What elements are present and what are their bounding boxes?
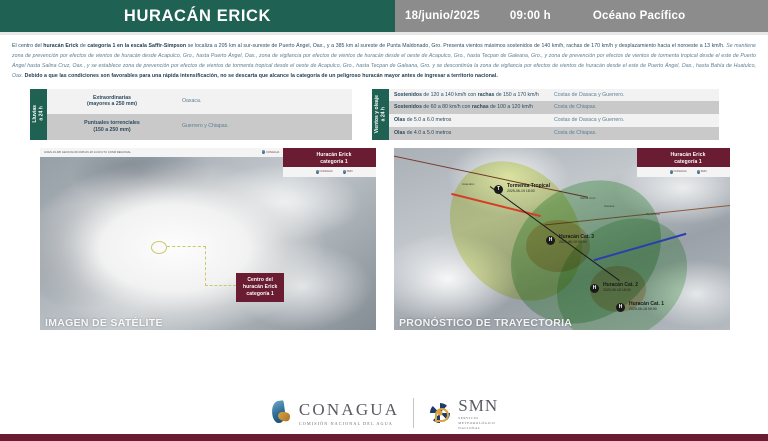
wind-desc-3: Olas de 4.0 a 5.0 metros xyxy=(389,127,549,140)
wind-table-block: Vientos y oleaje a 24 h Sostenidos de 12… xyxy=(372,89,719,140)
panels-section: GOES-19 ABI GEOCOLOR 2025-06-18 14:20 UT… xyxy=(0,146,768,330)
footer-divider xyxy=(413,398,414,428)
smn-logo-icon: SMN xyxy=(697,170,707,174)
summary-paragraph: El centro del huracán Erick de categoría… xyxy=(12,41,756,82)
wind-desc-2: Olas de 5.0 a 6.0 metros xyxy=(389,114,549,127)
callout-leader-horizontal-2 xyxy=(205,285,236,286)
summary-section: El centro del huracán Erick de categoría… xyxy=(0,35,768,84)
wind-rest1-2: de 5.0 a 6.0 metros xyxy=(405,117,451,123)
header-basin: Océano Pacífico xyxy=(593,10,685,22)
map-city-label: Salina Cruz xyxy=(580,196,596,200)
track-point-marker-3: H xyxy=(616,303,625,312)
track-point-time-2: 2025-06-18 18:00 xyxy=(603,288,638,293)
track-point-label-2: Huracán Cat. 2 2025-06-18 18:00 xyxy=(603,282,638,293)
smn-logo: SMN SERVICIO METEOROLÓGICO NACIONAL xyxy=(428,396,498,431)
satellite-strip-text: GOES-19 ABI GEOCOLOR 2025-06-18 14:20 UT… xyxy=(44,151,131,154)
rain-areas-1: Guerrero y Chiapas. xyxy=(177,114,352,140)
conagua-name: CONAGUA xyxy=(299,400,399,420)
forecast-panel-caption: PRONÓSTICO DE TRAYECTORIA xyxy=(399,317,572,329)
smn-logo-icon: SMN xyxy=(343,170,353,174)
conagua-logo: CONAGUA COMISIÓN NACIONAL DEL AGUA xyxy=(270,400,399,426)
track-point-label-1: Huracán Cat. 3 2025-06-19 00:00 xyxy=(559,234,594,245)
callout-leader-horizontal xyxy=(167,246,206,247)
rain-intensity-0: Extraordinarias (mayores a 250 mm) xyxy=(47,89,177,115)
header-time: 09:00 h xyxy=(510,10,551,22)
conagua-subtitle: COMISIÓN NACIONAL DEL AGUA xyxy=(299,421,399,426)
track-point-label-3: Huracán Cat. 1 2025-06-18 09:00 xyxy=(629,301,664,312)
wind-table-side-label: Vientos y oleaje a 24 h xyxy=(372,89,389,140)
wind-kind-1: Sostenidos xyxy=(394,104,422,110)
footer-accent-bar xyxy=(0,434,768,441)
wind-areas-0: Costas de Oaxaca y Guerrero. xyxy=(549,89,719,102)
track-point-label-0: Tormenta Tropical 2025-06-19 18:00 xyxy=(507,183,550,194)
track-point-time-3: 2025-06-18 09:00 xyxy=(629,307,664,312)
satellite-badge-logos: CONAGUA SMN xyxy=(283,167,376,177)
rain-table: Extraordinarias (mayores a 250 mm) Oaxac… xyxy=(47,89,352,140)
wind-kind2-1: rachas xyxy=(472,104,489,110)
conagua-logo-icon: CONAGUA xyxy=(316,170,333,174)
hurricane-eye-marker xyxy=(151,241,167,254)
wind-desc-0: Sostenidos de 120 a 140 km/h con rachas … xyxy=(389,89,549,102)
satellite-image-panel[interactable]: GOES-19 ABI GEOCOLOR 2025-06-18 14:20 UT… xyxy=(40,148,376,330)
track-point-time-1: 2025-06-19 00:00 xyxy=(559,240,594,245)
track-point-name-2: Huracán Cat. 2 xyxy=(603,282,638,288)
tables-section: Lluvias a 24 h Extraordinarias (mayores … xyxy=(0,84,768,146)
smn-emblem-icon xyxy=(428,401,452,425)
wind-desc-1: Sostenidos de 60 a 80 km/h con rachas de… xyxy=(389,101,549,114)
bulletin-page: HURACÁN ERICK 18/junio/2025 09:00 h Océa… xyxy=(0,0,768,441)
footer-logos: CONAGUA COMISIÓN NACIONAL DEL AGUA SMN S… xyxy=(270,396,498,431)
callout-leader-vertical xyxy=(205,246,206,286)
smn-name: SMN xyxy=(458,396,498,416)
header-meta-block: 18/junio/2025 09:00 h Océano Pacífico xyxy=(395,0,768,32)
conagua-logo-icon: CONAGUA xyxy=(670,170,687,174)
wind-kind2-0: rachas xyxy=(478,92,495,98)
track-point-marker-0: T xyxy=(494,185,503,194)
rain-table-block: Lluvias a 24 h Extraordinarias (mayores … xyxy=(30,89,352,140)
wind-table: Sostenidos de 120 a 140 km/h con rachas … xyxy=(389,89,719,140)
smn-subtitle: SERVICIO METEOROLÓGICO NACIONAL xyxy=(458,416,498,431)
rain-table-side-label: Lluvias a 24 h xyxy=(30,89,47,140)
smn-wordmark: SMN SERVICIO METEOROLÓGICO NACIONAL xyxy=(458,396,498,431)
wind-kind-3: Olas xyxy=(394,130,405,136)
map-city-label: Acapulco xyxy=(462,182,474,186)
wind-rest1-0: de 120 a 140 km/h con xyxy=(422,92,478,98)
wind-areas-2: Costas de Oaxaca y Guerrero. xyxy=(549,114,719,127)
track-point-name-0: Tormenta Tropical xyxy=(507,183,550,189)
table-row: Sostenidos de 60 a 80 km/h con rachas de… xyxy=(389,101,719,114)
wind-kind-2: Olas xyxy=(394,117,405,123)
map-city-label: Tapachula xyxy=(646,212,660,216)
table-row: Sostenidos de 120 a 140 km/h con rachas … xyxy=(389,89,719,102)
summary-part-1: El centro del xyxy=(12,43,43,49)
summary-storm-name: huracán Erick xyxy=(43,43,78,49)
rain-intensity-1: Puntuales torrenciales (150 a 250 mm) xyxy=(47,114,177,140)
track-point-marker-1: H xyxy=(546,236,555,245)
summary-part-3: se localiza a 205 km al sur-sureste de P… xyxy=(186,43,726,49)
footer-bar: CONAGUA COMISIÓN NACIONAL DEL AGUA SMN S… xyxy=(0,386,768,441)
table-row: Olas de 4.0 a 5.0 metros Costa de Chiapa… xyxy=(389,127,719,140)
header-title-block: HURACÁN ERICK xyxy=(0,0,395,32)
satellite-panel-caption: IMAGEN DE SATÉLITE xyxy=(45,317,163,329)
track-point-marker-2: H xyxy=(590,284,599,293)
conagua-emblem-icon xyxy=(270,400,292,426)
summary-warning-bold: Debido a que las condiciones son favorab… xyxy=(25,73,498,79)
forecast-track-panel[interactable]: Acapulco Oaxaca Tapachula Salina Cruz T … xyxy=(394,148,730,330)
header-bar: HURACÁN ERICK 18/junio/2025 09:00 h Océa… xyxy=(0,0,768,32)
track-point-time-0: 2025-06-19 18:00 xyxy=(507,189,550,194)
header-date: 18/junio/2025 xyxy=(405,10,480,22)
wind-rest2-0: de 150 a 170 km/h xyxy=(494,92,538,98)
conagua-logo-icon: CONAGUA xyxy=(262,150,279,154)
track-point-name-3: Huracán Cat. 1 xyxy=(629,301,664,307)
wind-rest2-1: de 100 a 120 km/h xyxy=(489,104,533,110)
forecast-badge-logos: CONAGUA SMN xyxy=(637,167,730,177)
wind-rest1-1: de 60 a 80 km/h con xyxy=(422,104,472,110)
wind-rest1-3: de 4.0 a 5.0 metros xyxy=(405,130,451,136)
table-row: Olas de 5.0 a 6.0 metros Costas de Oaxac… xyxy=(389,114,719,127)
track-point-name-1: Huracán Cat. 3 xyxy=(559,234,594,240)
summary-category: categoría 1 en la escala Saffir-Simpson xyxy=(87,43,186,49)
page-title: HURACÁN ERICK xyxy=(124,7,271,26)
rain-areas-0: Oaxaca. xyxy=(177,89,352,115)
wind-areas-1: Costa de Chiapas. xyxy=(549,101,719,114)
table-row: Puntuales torrenciales (150 a 250 mm) Gu… xyxy=(47,114,352,140)
table-row: Extraordinarias (mayores a 250 mm) Oaxac… xyxy=(47,89,352,115)
conagua-wordmark: CONAGUA COMISIÓN NACIONAL DEL AGUA xyxy=(299,400,399,426)
rain-table-side-text: Lluvias a 24 h xyxy=(32,105,45,123)
wind-table-side-text: Vientos y oleaje a 24 h xyxy=(374,95,387,133)
wind-radius-orange xyxy=(526,220,590,272)
wind-areas-3: Costa de Chiapas. xyxy=(549,127,719,140)
wind-kind-0: Sostenidos xyxy=(394,92,422,98)
map-city-label: Oaxaca xyxy=(604,204,614,208)
hurricane-center-badge: Centro del huracán Erick categoría 1 xyxy=(236,273,284,303)
